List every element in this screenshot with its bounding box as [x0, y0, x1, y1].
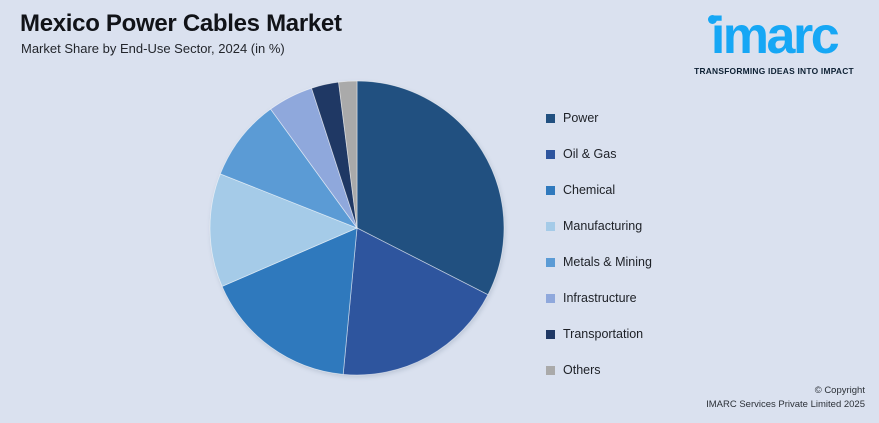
- legend-item[interactable]: Others: [546, 352, 746, 388]
- copyright-line-2: IMARC Services Private Limited 2025: [706, 398, 865, 412]
- legend-swatch-icon: [546, 294, 555, 303]
- legend-swatch-icon: [546, 150, 555, 159]
- page-title: Mexico Power Cables Market: [20, 10, 342, 38]
- legend-item[interactable]: Manufacturing: [546, 208, 746, 244]
- legend-label: Metals & Mining: [563, 255, 652, 269]
- logo-tagline: TRANSFORMING IDEAS INTO IMPACT: [681, 66, 867, 76]
- pie-chart-svg: Power: 32.5%Oil & Gas: 19%Chemical: 17%M…: [209, 80, 505, 376]
- legend-label: Infrastructure: [563, 291, 637, 305]
- legend-item[interactable]: Metals & Mining: [546, 244, 746, 280]
- legend-swatch-icon: [546, 186, 555, 195]
- logo-dot-icon: [708, 15, 717, 24]
- legend-swatch-icon: [546, 114, 555, 123]
- copyright-notice: © Copyright IMARC Services Private Limit…: [706, 384, 865, 412]
- legend-swatch-icon: [546, 222, 555, 231]
- pie-chart: Power: 32.5%Oil & Gas: 19%Chemical: 17%M…: [209, 80, 505, 376]
- legend-label: Oil & Gas: [563, 147, 617, 161]
- imarc-logo: imarc TRANSFORMING IDEAS INTO IMPACT: [681, 8, 867, 78]
- page-subtitle: Market Share by End-Use Sector, 2024 (in…: [21, 41, 285, 56]
- chart-canvas: Mexico Power Cables Market Market Share …: [0, 0, 879, 423]
- copyright-line-1: © Copyright: [706, 384, 865, 398]
- legend-item[interactable]: Transportation: [546, 316, 746, 352]
- legend-item[interactable]: Oil & Gas: [546, 136, 746, 172]
- legend-label: Transportation: [563, 327, 643, 341]
- legend-label: Manufacturing: [563, 219, 642, 233]
- legend-label: Chemical: [563, 183, 615, 197]
- legend-swatch-icon: [546, 330, 555, 339]
- legend-swatch-icon: [546, 366, 555, 375]
- legend-item[interactable]: Infrastructure: [546, 280, 746, 316]
- legend-label: Power: [563, 111, 598, 125]
- legend-item[interactable]: Power: [546, 100, 746, 136]
- legend-swatch-icon: [546, 258, 555, 267]
- legend-label: Others: [563, 363, 601, 377]
- chart-legend: PowerOil & GasChemicalManufacturingMetal…: [546, 100, 746, 388]
- pie-slice-group: Power: 32.5%Oil & Gas: 19%Chemical: 17%M…: [210, 81, 504, 375]
- legend-item[interactable]: Chemical: [546, 172, 746, 208]
